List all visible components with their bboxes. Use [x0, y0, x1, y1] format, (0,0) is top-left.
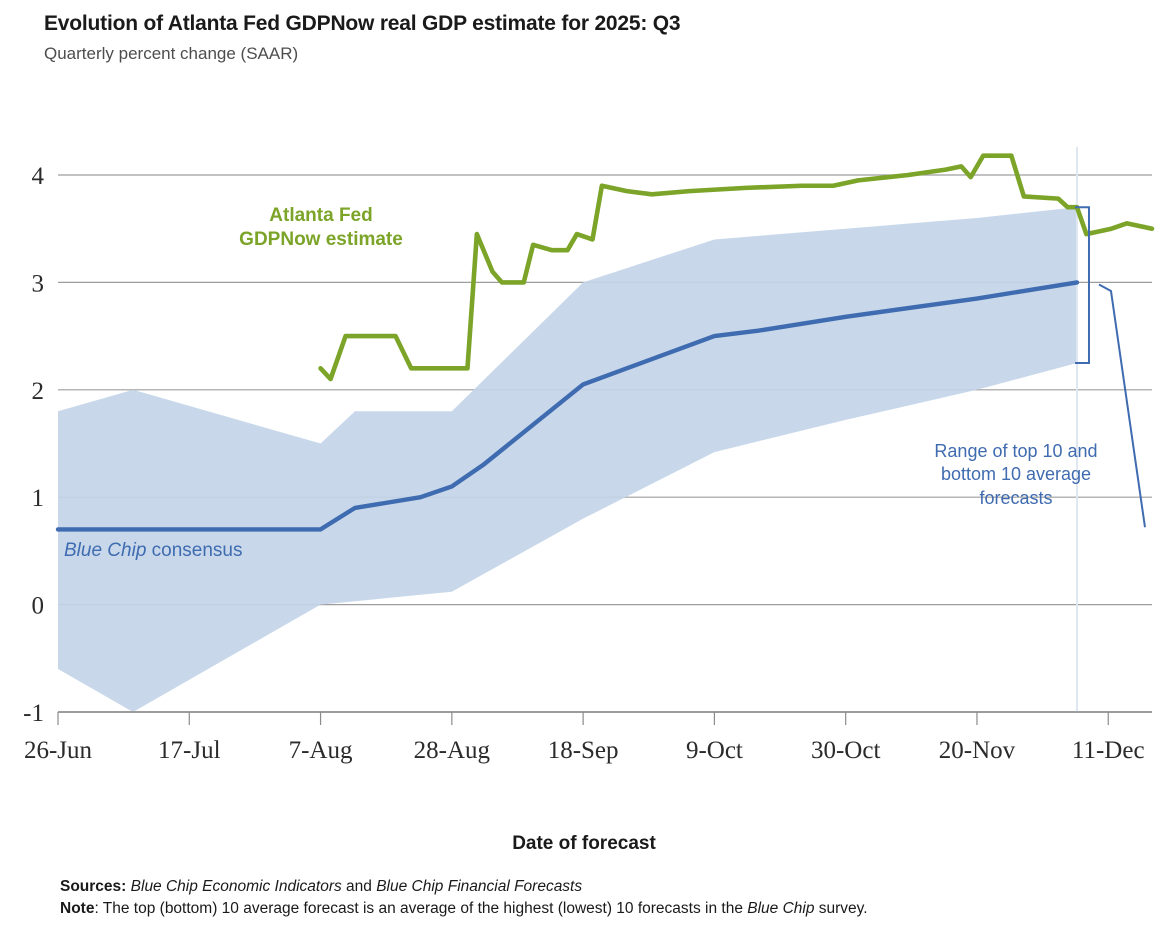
- sources-publication-a: Blue Chip Economic Indicators: [131, 878, 342, 895]
- x-axis-title: Date of forecast: [0, 833, 1168, 855]
- note-label: Note: [60, 900, 94, 917]
- bluechip-rest-text: consensus: [146, 540, 242, 561]
- note-text-a: : The top (bottom) 10 average forecast i…: [94, 900, 747, 917]
- x-axis-tick-label: 17-Jul: [158, 737, 221, 764]
- band-label-line2: bottom 10 average: [896, 463, 1136, 486]
- x-axis-tick-label: 30-Oct: [811, 737, 880, 764]
- y-axis-tick-label: 0: [32, 593, 45, 620]
- note-italic: Blue Chip: [747, 900, 814, 917]
- series-label-bluechip: Blue Chip consensus: [64, 540, 243, 562]
- note-text-b: survey.: [814, 900, 867, 917]
- y-axis-tick-label: 3: [32, 270, 45, 297]
- y-axis-tick-label: 1: [32, 485, 45, 512]
- series-label-gdpnow: Atlanta Fed GDPNow estimate: [206, 204, 436, 252]
- x-axis-tick-label: 28-Aug: [414, 737, 491, 764]
- band-label-line3: forecasts: [896, 487, 1136, 510]
- x-axis-tick-label: 7-Aug: [289, 737, 353, 764]
- x-axis-tick-label: 9-Oct: [686, 737, 743, 764]
- band-label-line1: Range of top 10 and: [896, 440, 1136, 463]
- note-line: Note: The top (bottom) 10 average foreca…: [60, 898, 868, 920]
- sources-label: Sources:: [60, 878, 126, 895]
- footnotes: Sources: Blue Chip Economic Indicators a…: [60, 876, 868, 921]
- x-axis-tick-label: 11-Dec: [1072, 737, 1145, 764]
- gdpnow-line-chart: -10123426-Jun17-Jul7-Aug28-Aug18-Sep9-Oc…: [0, 0, 1168, 790]
- x-axis-tick-label: 26-Jun: [24, 737, 93, 764]
- sources-line: Sources: Blue Chip Economic Indicators a…: [60, 876, 868, 898]
- band-label-range: Range of top 10 and bottom 10 average fo…: [896, 440, 1136, 510]
- sources-publication-b: Blue Chip Financial Forecasts: [376, 878, 582, 895]
- sources-and: and: [342, 878, 376, 895]
- chart-canvas: -10123426-Jun17-Jul7-Aug28-Aug18-Sep9-Oc…: [0, 0, 1168, 790]
- bluechip-italic-text: Blue Chip: [64, 540, 146, 561]
- series-label-gdpnow-line2: GDPNow estimate: [206, 228, 436, 252]
- y-axis-tick-label: 4: [32, 163, 45, 190]
- x-axis-tick-label: 20-Nov: [939, 737, 1016, 764]
- y-axis-tick-label: 2: [32, 378, 45, 405]
- x-axis-tick-label: 18-Sep: [548, 737, 619, 764]
- series-label-gdpnow-line1: Atlanta Fed: [206, 204, 436, 228]
- y-axis-tick-label: -1: [23, 700, 44, 727]
